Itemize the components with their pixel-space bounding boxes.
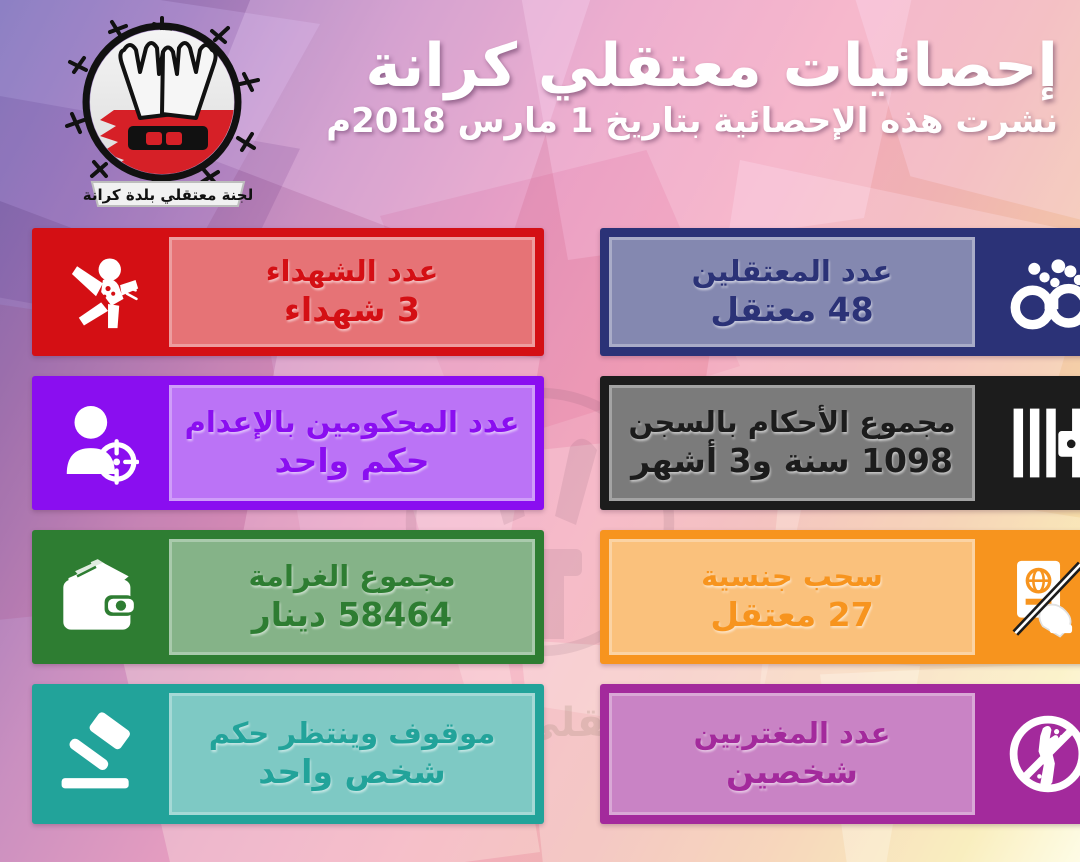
stat-card-prison-sentences: مجموع الأحكام بالسجن1098 سنة و3 أشهر <box>600 376 1080 510</box>
stat-panel: عدد المعتقلين48 معتقل <box>609 237 975 347</box>
stat-panel: مجموع الأحكام بالسجن1098 سنة و3 أشهر <box>609 385 975 501</box>
page-title: إحصائيات معتقلي كرانة <box>298 36 1058 97</box>
stat-label: سحب جنسية <box>701 560 883 594</box>
stat-panel: عدد الشهداء3 شهداء <box>169 237 535 347</box>
stat-label: موقوف وينتظر حكم <box>209 717 496 751</box>
stat-card-martyrs: عدد الشهداء3 شهداء <box>32 228 544 356</box>
stat-value: 1098 سنة و3 أشهر <box>631 442 953 480</box>
stat-card-detainees: عدد المعتقلين48 معتقل <box>600 228 1080 356</box>
stat-panel: عدد المحكومين بالإعدامحكم واحد <box>169 385 535 501</box>
stat-card-citizenship-revoked: سحب جنسية27 معتقل <box>600 530 1080 664</box>
stat-card-exiled: عدد المغتربينشخصين <box>600 684 1080 824</box>
stat-value: شخص واحد <box>258 753 445 791</box>
person-target-icon <box>32 376 160 510</box>
stat-value: 58464 دينار <box>252 596 453 634</box>
page-subtitle: نشرت هذه الإحصائية بتاريخ 1 مارس 2018م <box>298 103 1058 140</box>
stat-value: 27 معتقل <box>710 596 873 634</box>
stat-panel: موقوف وينتظر حكمشخص واحد <box>169 693 535 815</box>
stat-panel: سحب جنسية27 معتقل <box>609 539 975 655</box>
title-block: إحصائيات معتقلي كرانة نشرت هذه الإحصائية… <box>298 36 1058 141</box>
stat-value: حكم واحد <box>275 442 430 480</box>
handcuffs-icon <box>984 228 1080 356</box>
stat-label: عدد المحكومين بالإعدام <box>185 406 520 440</box>
stat-panel: مجموع الغرامة58464 دينار <box>169 539 535 655</box>
stat-value: 48 معتقل <box>710 291 873 329</box>
stat-card-awaiting-verdict: موقوف وينتظر حكمشخص واحد <box>32 684 544 824</box>
poster-header: لجنة معتقلي بلدة كرانة إحصائيات معتقلي ك… <box>0 0 1080 222</box>
stats-grid: عدد المعتقلين48 معتقلعدد الشهداء3 شهداءم… <box>0 228 1080 856</box>
no-entry-bahrain-map-icon <box>984 684 1080 824</box>
stat-label: عدد المعتقلين <box>692 255 893 289</box>
gavel-icon <box>32 684 160 824</box>
stat-card-total-fines: مجموع الغرامة58464 دينار <box>32 530 544 664</box>
stat-label: عدد الشهداء <box>266 255 439 289</box>
prison-bars-icon <box>984 376 1080 510</box>
falling-person-icon <box>32 228 160 356</box>
wallet-icon <box>32 530 160 664</box>
stat-label: مجموع الغرامة <box>248 560 455 594</box>
stat-label: عدد المغتربين <box>694 717 891 751</box>
stat-label: مجموع الأحكام بالسجن <box>628 406 955 440</box>
stat-panel: عدد المغتربينشخصين <box>609 693 975 815</box>
stat-value: 3 شهداء <box>284 291 420 329</box>
stat-value: شخصين <box>726 753 858 791</box>
stat-card-death-sentences: عدد المحكومين بالإعدامحكم واحد <box>32 376 544 510</box>
infographic-poster: لجنة معتقلي بلدة كرانة <box>0 0 1080 862</box>
karrana-detainees-committee-logo: لجنة معتقلي بلدة كرانة <box>62 14 274 210</box>
svg-text:لجنة معتقلي بلدة كرانة: لجنة معتقلي بلدة كرانة <box>83 186 254 204</box>
revoked-passport-icon <box>984 530 1080 664</box>
